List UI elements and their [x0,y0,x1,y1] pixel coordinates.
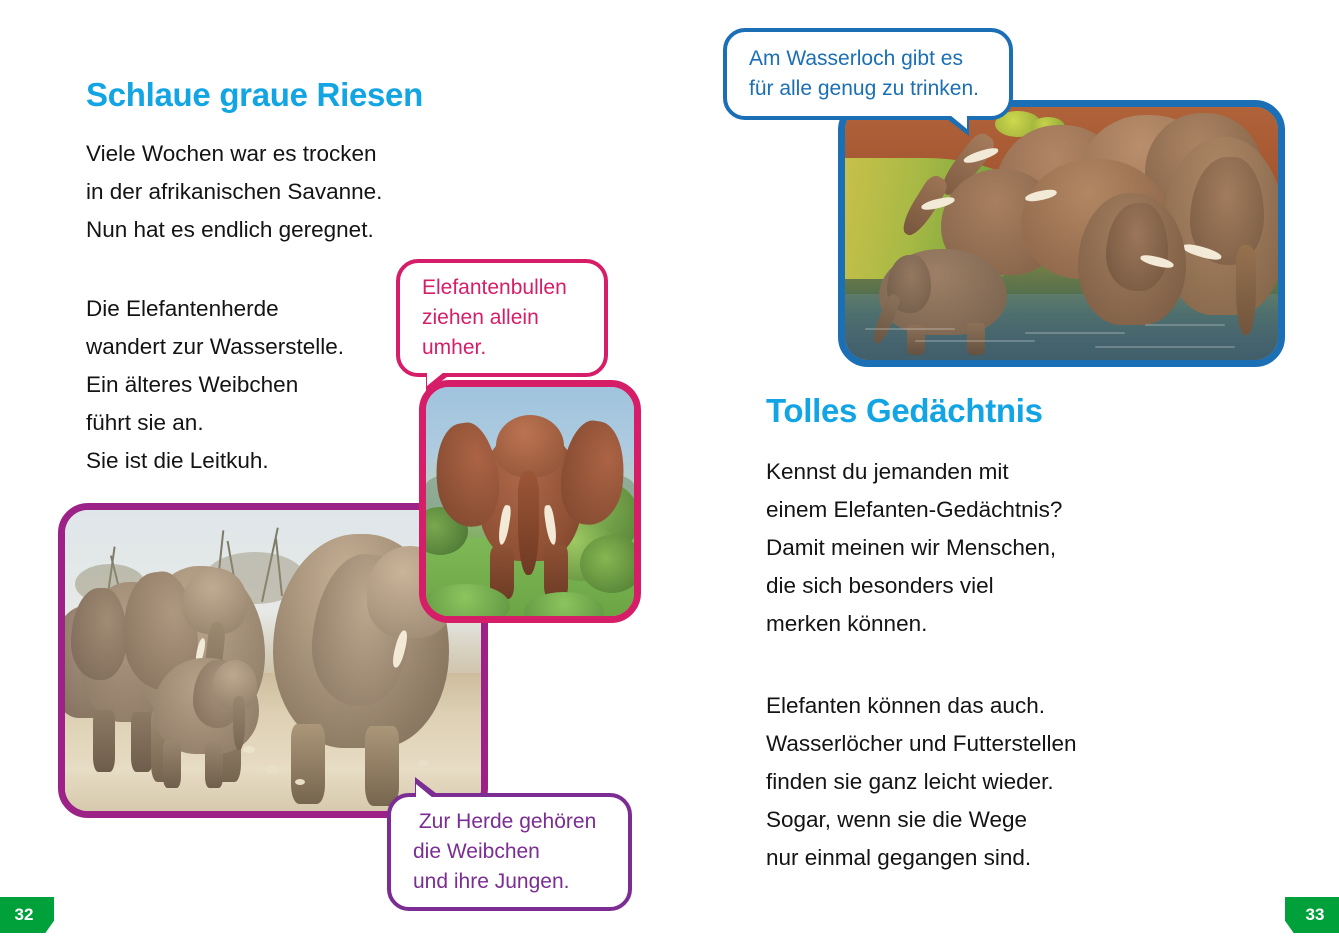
bubble-tail-pink-inner [427,372,444,386]
speech-bubble-zur-herde-text: Zur Herde gehören die Weibchen und ihre … [391,807,596,897]
right-paragraph-2: Elefanten können das auch. Wasserlöcher … [766,687,1077,877]
book-spread: Schlaue graue Riesen Viele Wochen war es… [0,0,1339,945]
left-page-heading: Schlaue graue Riesen [86,76,423,114]
page-number-right: 33 [1285,897,1339,933]
page-number-left-text: 32 [15,905,34,925]
left-paragraph-1: Viele Wochen war es trocken in der afrik… [86,135,382,249]
speech-bubble-elefantenbullen-text: Elefantenbullen ziehen allein umher. [400,273,567,363]
bubble-tail-blue-inner [950,115,967,129]
photo-elephant-bull [419,380,641,623]
speech-bubble-am-wasserloch-text: Am Wasserloch gibt es für alle genug zu … [727,44,979,104]
speech-bubble-zur-herde: Zur Herde gehören die Weibchen und ihre … [387,793,632,911]
page-number-left: 32 [0,897,54,933]
right-paragraph-1: Kennst du jemanden mit einem Elefanten-G… [766,453,1062,643]
speech-bubble-am-wasserloch: Am Wasserloch gibt es für alle genug zu … [723,28,1013,120]
left-paragraph-2: Die Elefantenherde wandert zur Wasserste… [86,290,344,480]
right-page-heading: Tolles Gedächtnis [766,392,1043,430]
speech-bubble-elefantenbullen: Elefantenbullen ziehen allein umher. [396,259,608,377]
bubble-tail-purple-inner [416,784,433,798]
photo-waterhole-scene [845,107,1278,360]
photo-waterhole [838,100,1285,367]
photo-elephant-bull-scene [426,387,634,616]
page-number-right-text: 33 [1306,905,1325,925]
